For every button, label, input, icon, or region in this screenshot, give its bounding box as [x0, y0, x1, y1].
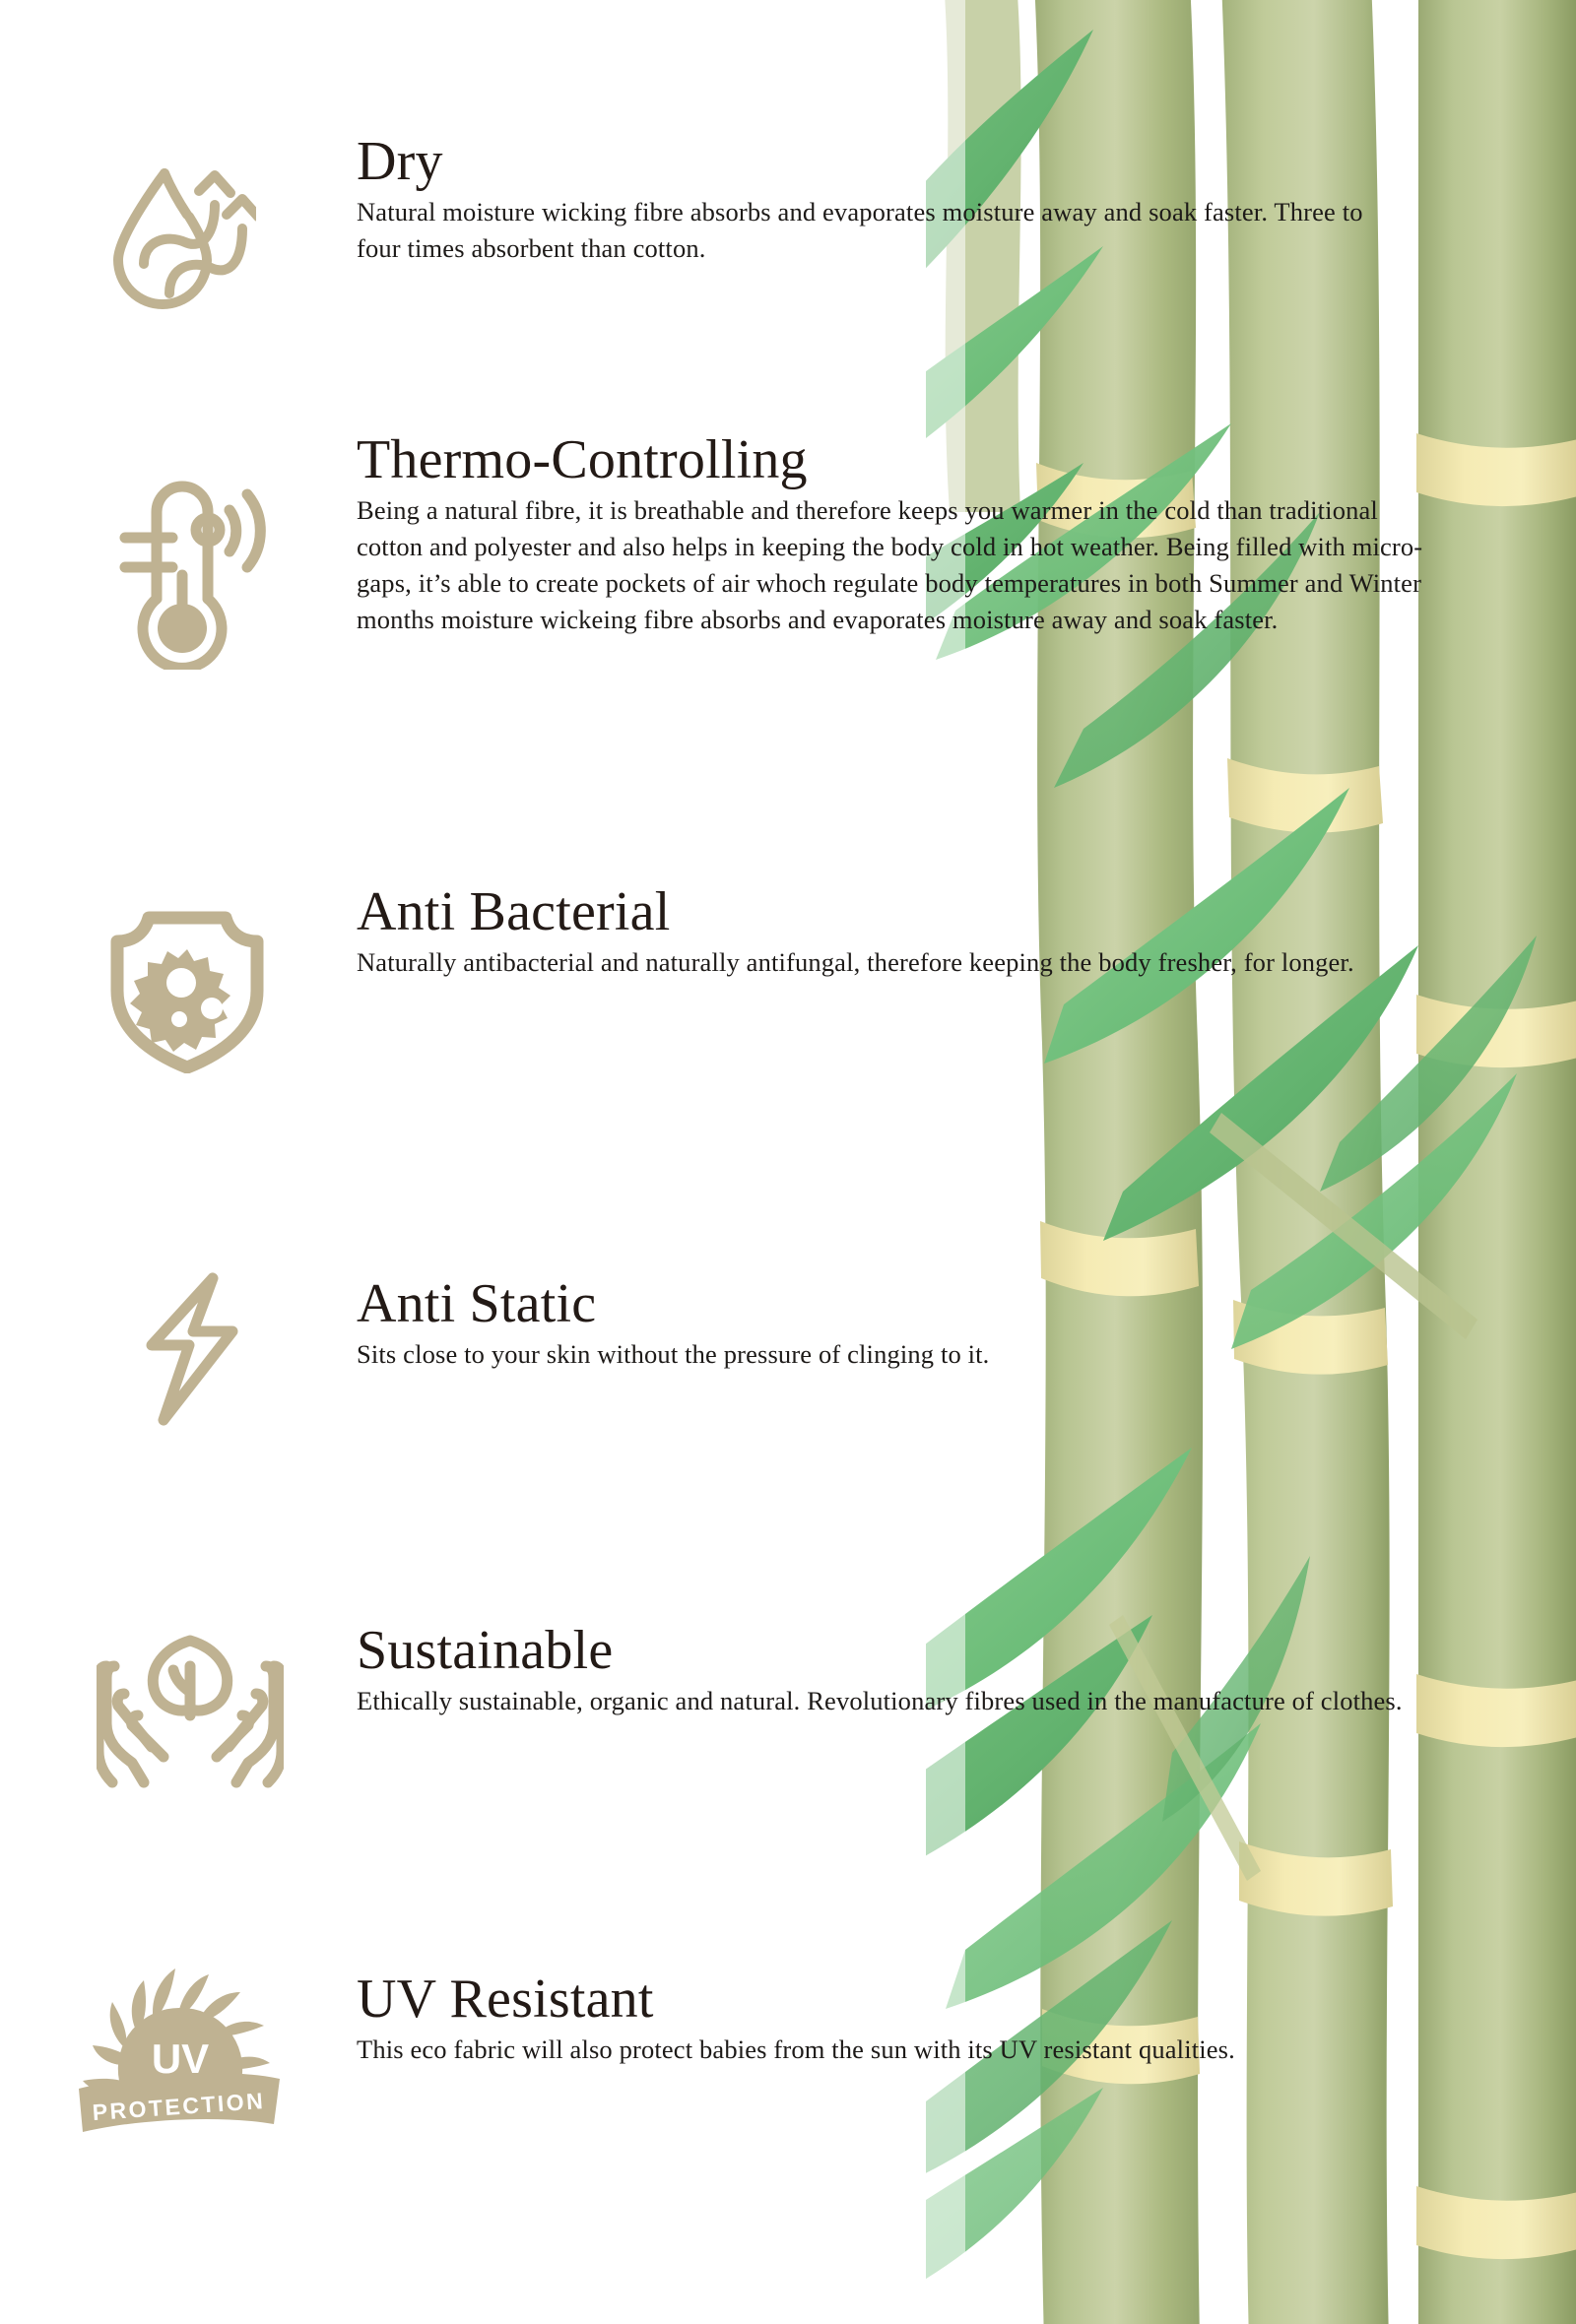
- feature-thermo-text: Thermo-Controlling Being a natural fibre…: [357, 432, 1432, 638]
- feature-dry-body: Natural moisture wicking fibre absorbs a…: [357, 194, 1403, 267]
- feature-bacterial-body: Naturally antibacterial and naturally an…: [357, 944, 1432, 981]
- feature-sustain-body: Ethically sustainable, organic and natur…: [357, 1683, 1432, 1719]
- hands-holding-leaf-icon: [97, 1633, 284, 1790]
- feature-sustain-title: Sustainable: [357, 1623, 1432, 1678]
- feature-bacterial-text: Anti Bacterial Naturally antibacterial a…: [357, 884, 1432, 981]
- uv-protection-sun-badge-icon: UV PROTECTION: [77, 1965, 284, 2137]
- feature-dry-title: Dry: [357, 134, 1403, 189]
- shield-bacteria-icon: [103, 906, 271, 1073]
- feature-uv-text: UV Resistant This eco fabric will also p…: [357, 1971, 1432, 2068]
- water-drop-evaporation-icon: [108, 158, 256, 315]
- lightning-bolt-icon: [128, 1270, 256, 1428]
- feature-static-body: Sits close to your skin without the pres…: [357, 1336, 1432, 1373]
- feature-thermo-body: Being a natural fibre, it is breathable …: [357, 492, 1432, 638]
- feature-uv-title: UV Resistant: [357, 1971, 1432, 2027]
- feature-bacterial-title: Anti Bacterial: [357, 884, 1432, 939]
- feature-static-text: Anti Static Sits close to your skin with…: [357, 1276, 1432, 1373]
- feature-dry-text: Dry Natural moisture wicking fibre absor…: [357, 134, 1403, 267]
- feature-uv-body: This eco fabric will also protect babies…: [357, 2032, 1432, 2068]
- feature-static-title: Anti Static: [357, 1276, 1432, 1331]
- thermometer-signal-icon: [113, 473, 271, 670]
- uv-badge-line1: UV: [152, 2035, 209, 2082]
- feature-sustain-text: Sustainable Ethically sustainable, organ…: [357, 1623, 1432, 1719]
- feature-thermo-title: Thermo-Controlling: [357, 432, 1432, 487]
